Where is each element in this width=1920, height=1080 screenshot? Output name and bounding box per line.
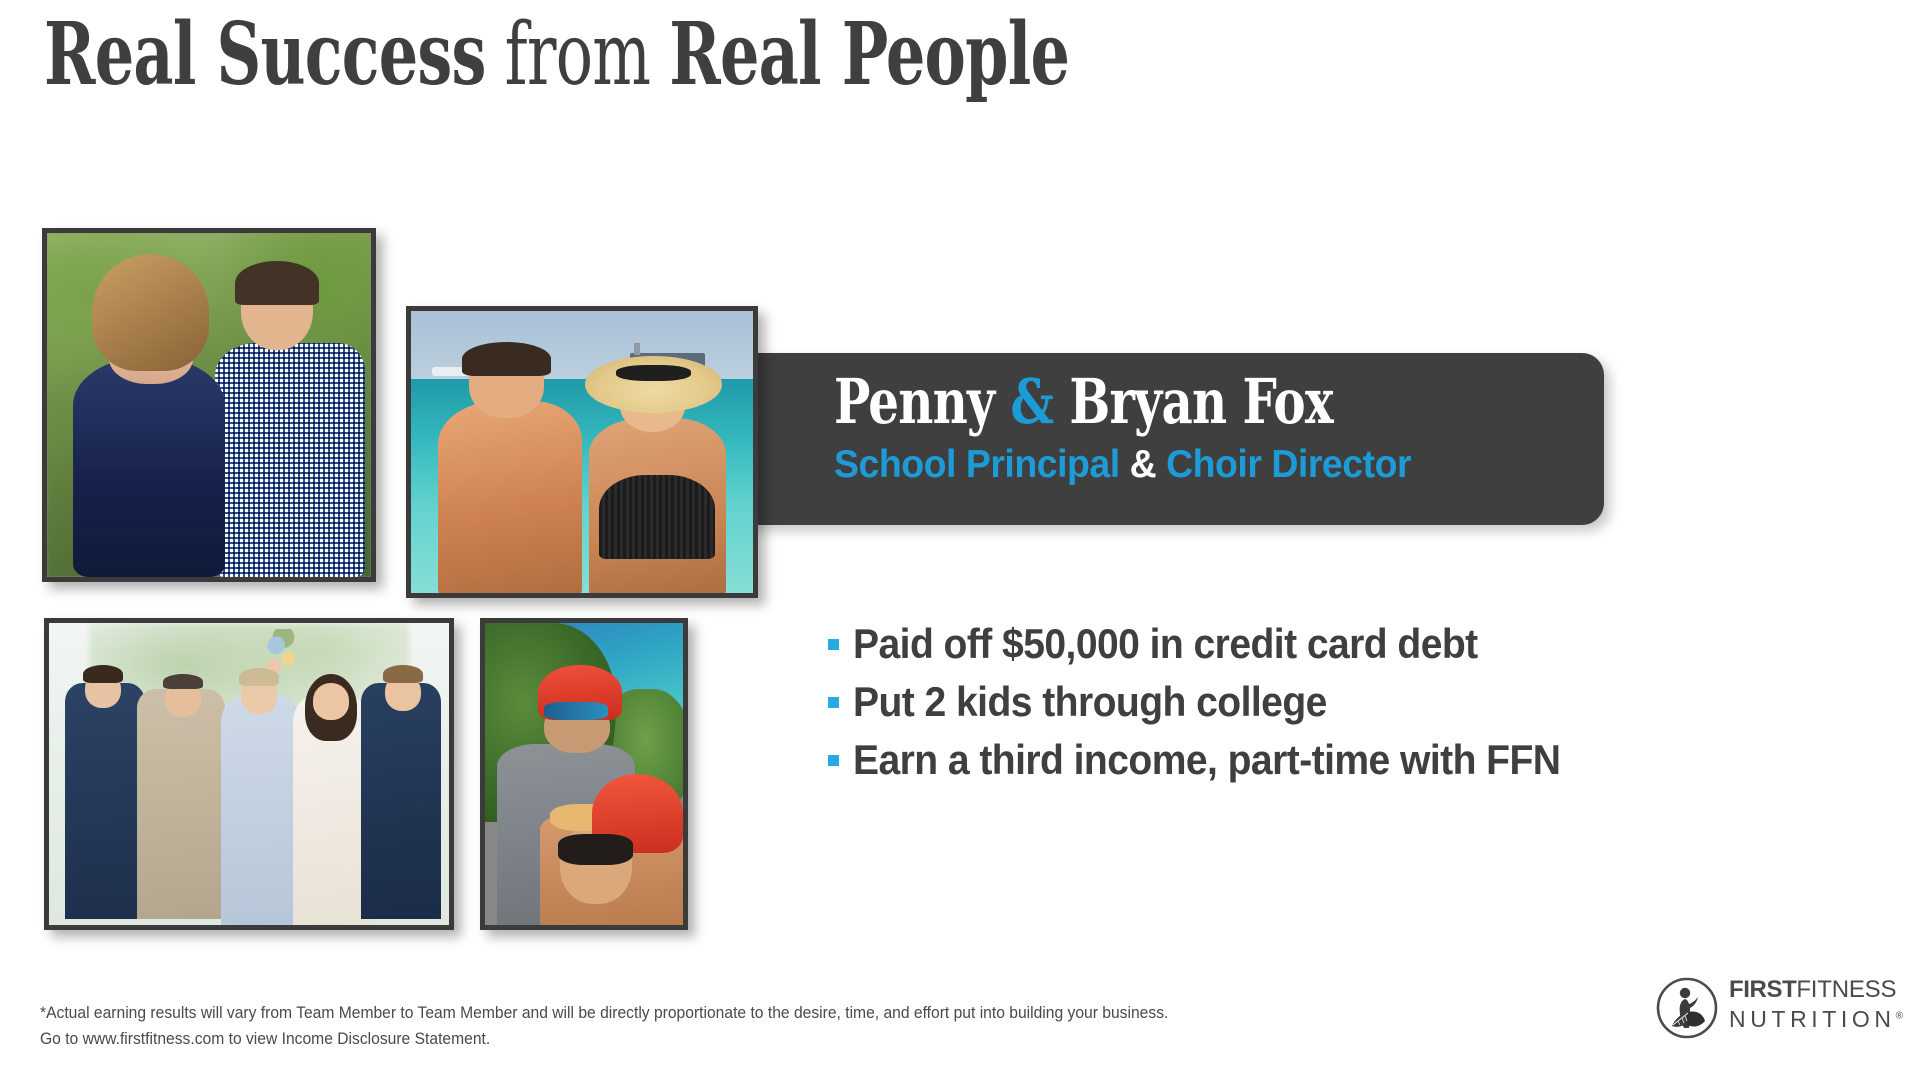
person-name-ampersand: & <box>1010 365 1053 438</box>
photo-couple-outdoor <box>42 228 376 582</box>
list-item: Put 2 kids through college <box>828 673 1614 731</box>
person-name: Penny & Bryan Fox <box>834 365 1333 438</box>
benefit-text: Put 2 kids through college <box>853 678 1327 726</box>
person-name-last: Bryan Fox <box>1053 365 1333 438</box>
photo-beach <box>406 306 758 598</box>
person-role-last: Choir Director <box>1156 443 1411 486</box>
logo-word-fitness: FITNESS <box>1796 976 1896 1003</box>
list-item: Paid off $50,000 in credit card debt <box>828 615 1614 673</box>
disclaimer-line-1: *Actual earning results will vary from T… <box>40 1000 1168 1026</box>
square-bullet-icon <box>828 755 839 766</box>
logo-wordmark-line-2: NUTRITION® <box>1729 1008 1903 1031</box>
logo-word-first: FIRST <box>1729 976 1796 1003</box>
list-item: Earn a third income, part-time with FFN <box>828 731 1614 789</box>
person-name-first: Penny <box>834 365 1010 438</box>
page-title: Real Success from Real People <box>44 10 1069 100</box>
logo-wordmark-line-1: FIRSTFITNESS <box>1729 978 1903 1002</box>
firstfitness-logo: FIRSTFITNESS NUTRITION® <box>1655 972 1895 1046</box>
name-card: Penny & Bryan Fox School Principal & Cho… <box>636 353 1604 525</box>
person-role-ampersand: & <box>1130 443 1157 486</box>
benefit-text: Paid off $50,000 in credit card debt <box>853 620 1478 668</box>
slide-root: Real Success from Real People <box>0 0 1920 1080</box>
title-part-1: Real Success <box>44 4 486 105</box>
benefit-text: Earn a third income, part-time with FFN <box>853 736 1560 784</box>
registered-trademark-icon: ® <box>1896 1010 1903 1021</box>
photo-zipline <box>480 618 688 930</box>
square-bullet-icon <box>828 697 839 708</box>
person-role: School Principal & Choir Director <box>834 443 1411 487</box>
square-bullet-icon <box>828 639 839 650</box>
title-part-2: from <box>486 5 670 105</box>
logo-word-nutrition: NUTRITION <box>1729 1006 1896 1032</box>
person-role-first: School Principal <box>834 443 1130 486</box>
benefits-list: Paid off $50,000 in credit card debt Put… <box>828 615 1614 789</box>
title-part-3: Real People <box>669 4 1069 105</box>
disclaimer-line-2: Go to www.firstfitness.com to view Incom… <box>40 1026 1168 1052</box>
disclaimer: *Actual earning results will vary from T… <box>40 1000 1168 1053</box>
photo-wedding <box>44 618 454 930</box>
firstfitness-figure-leaf-icon <box>1655 976 1719 1040</box>
